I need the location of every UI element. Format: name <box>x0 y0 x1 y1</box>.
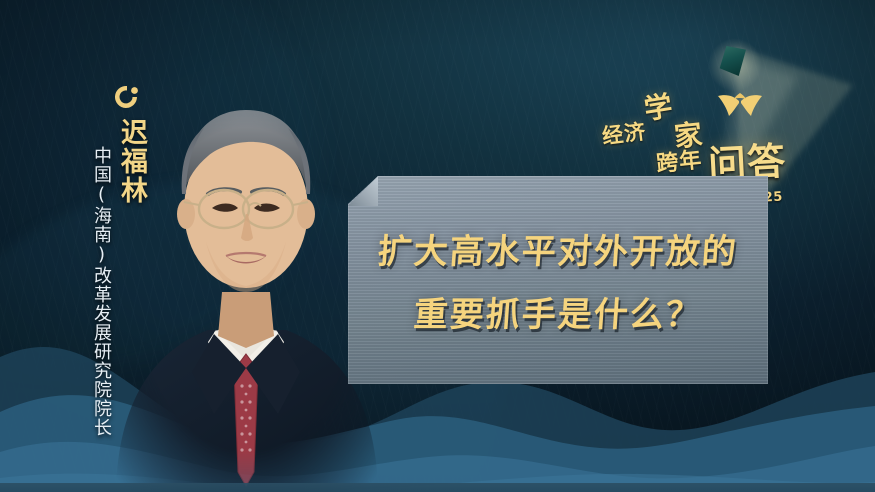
question-text-group: 扩大高水平对外开放的 重要抓手是什么？ <box>348 176 768 384</box>
bottom-strip <box>0 483 875 492</box>
logo-text-kuanian: 跨年 <box>654 142 703 179</box>
broadcast-title-card: 经济 学 家 跨年 问答 ——回顾2024，展望2025 <box>0 0 875 492</box>
program-logo: 经济 学 家 跨年 问答 ——回顾2024，展望2025 <box>596 78 846 173</box>
open-book-icon <box>716 92 764 118</box>
logo-text-xue: 学 <box>641 84 676 128</box>
logo-text-jingji: 经济 <box>600 115 647 150</box>
guest-name: 迟福林 <box>112 118 151 205</box>
question-line-1: 扩大高水平对外开放的 <box>376 224 739 273</box>
quotation-mark-icon <box>114 84 140 110</box>
question-line-2: 重要抓手是什么？ <box>412 287 703 336</box>
guest-title: 中国(海南)改革发展研究院院长 <box>88 146 114 437</box>
